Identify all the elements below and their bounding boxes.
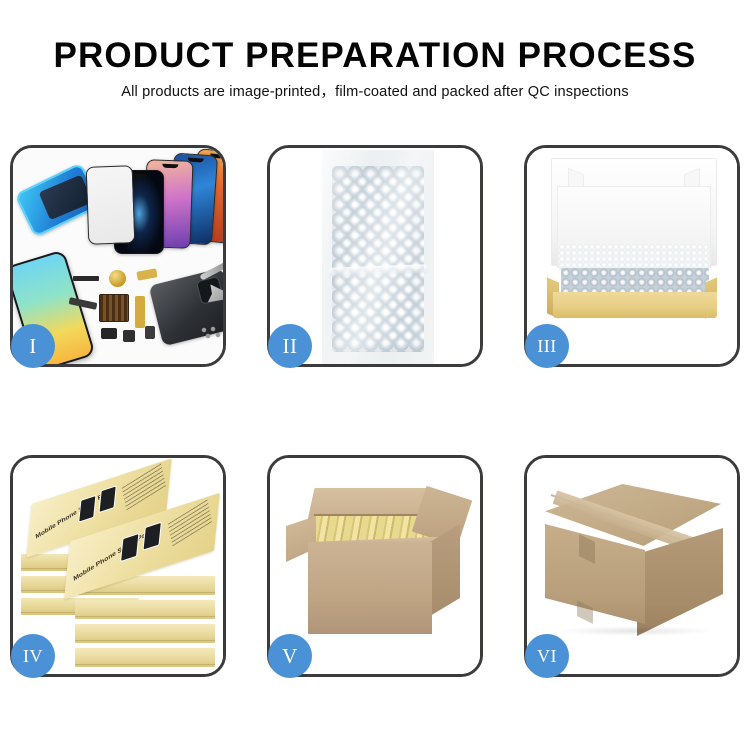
box-screen-image — [120, 533, 139, 562]
earpiece-part-icon — [73, 276, 99, 281]
step-badge-1: I — [11, 324, 55, 368]
camera-module-part-icon — [101, 328, 117, 339]
box-screen-image — [98, 485, 116, 513]
stacked-box-slab — [75, 624, 215, 643]
product-preparation-process-page: PRODUCT PREPARATION PROCESS All products… — [0, 0, 750, 750]
box-screen-image — [142, 522, 161, 551]
screws-icon — [201, 326, 223, 340]
front-glass-panel-icon — [86, 165, 136, 245]
plastic-sheen — [322, 150, 434, 364]
ribbon-cable-part-icon — [135, 296, 145, 328]
box-spec-lines — [122, 463, 166, 511]
step-badge-5: V — [268, 634, 312, 678]
connector-board-part-icon — [99, 294, 129, 322]
foam-sheet — [559, 244, 709, 270]
step-badge-3: III — [525, 324, 569, 368]
battery-connector-part-icon — [145, 326, 155, 339]
speaker-part-icon — [123, 330, 135, 342]
page-title: PRODUCT PREPARATION PROCESS — [0, 36, 750, 75]
stacked-box-slab — [75, 648, 215, 667]
flex-cable-part-icon — [136, 268, 157, 280]
step-panel-4[interactable]: Mobile Phone Spare Parts Mobile Phone Sp… — [10, 455, 226, 677]
carton-shadow — [555, 626, 715, 636]
step-panel-1[interactable]: I — [10, 145, 226, 367]
box-spec-lines — [168, 499, 212, 547]
carton-front-panel — [308, 542, 432, 634]
step-badge-4: IV — [11, 634, 55, 678]
step-panel-6[interactable]: VI — [524, 455, 740, 677]
step-badge-6: VI — [525, 634, 569, 678]
header: PRODUCT PREPARATION PROCESS All products… — [0, 36, 750, 102]
carton-right-panel — [637, 528, 723, 636]
step-panel-3[interactable]: III — [524, 145, 740, 367]
vibration-motor-part-icon — [109, 270, 126, 287]
step-panel-5[interactable]: V — [267, 455, 483, 677]
process-steps-grid: I II — [10, 145, 740, 682]
box-front-panel — [553, 292, 717, 318]
step-badge-2: II — [268, 324, 312, 368]
step-panel-2[interactable]: II — [267, 145, 483, 367]
box-screen-image — [78, 495, 96, 523]
stacked-box-slab — [75, 600, 215, 619]
page-subtitle: All products are image-printed，film-coat… — [0, 84, 750, 102]
